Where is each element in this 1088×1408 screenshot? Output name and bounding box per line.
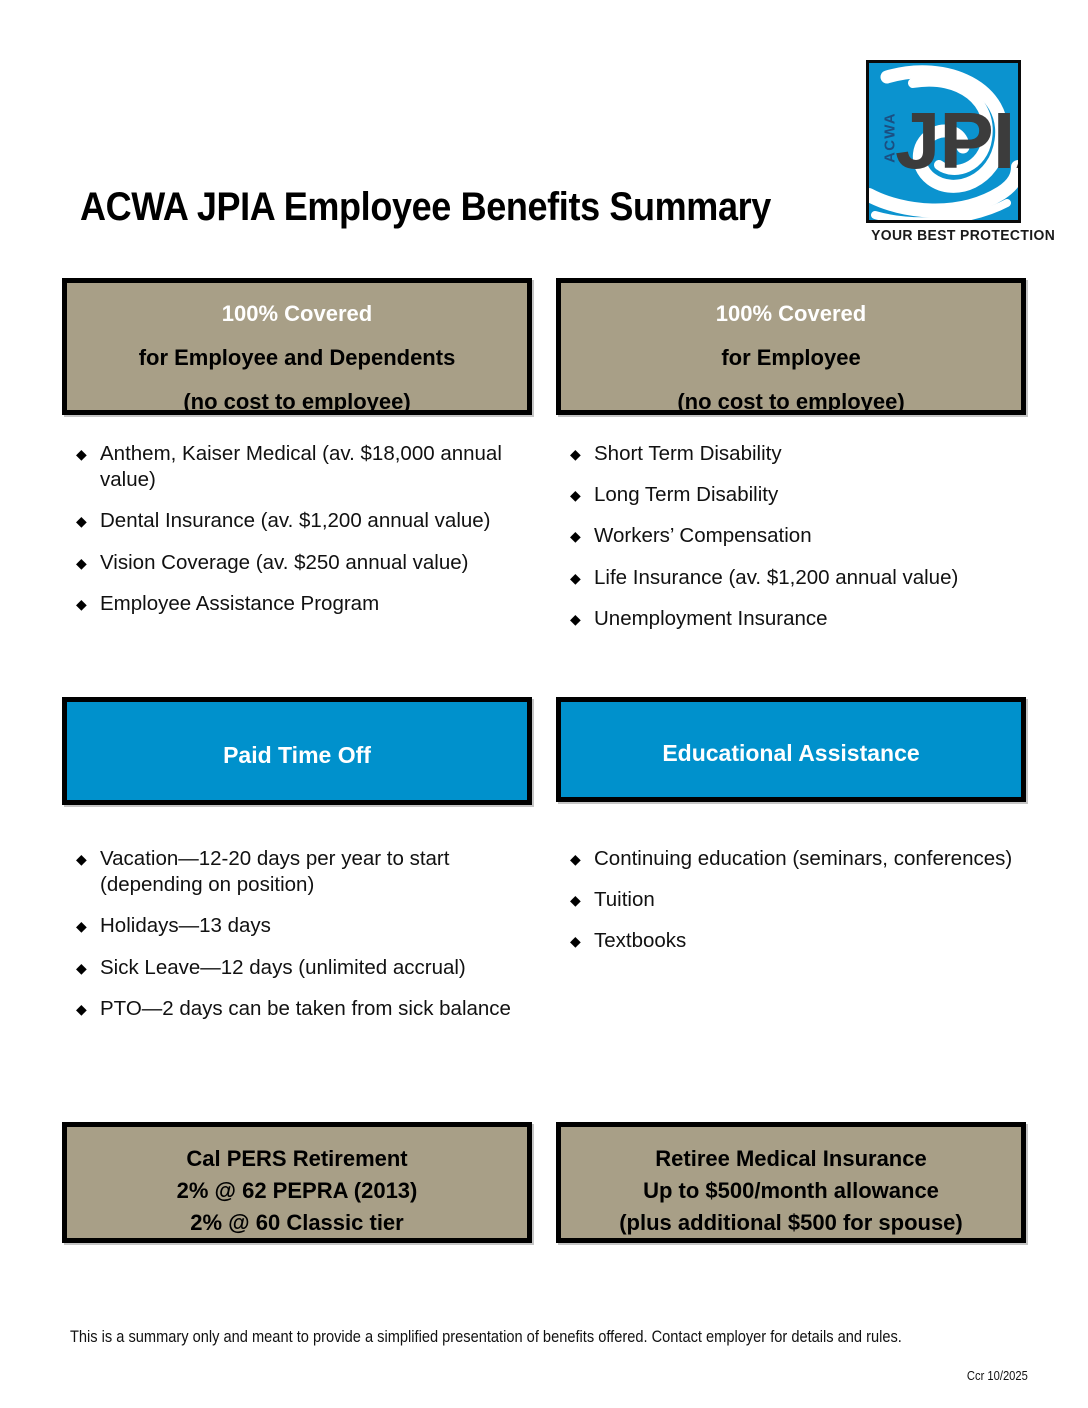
diamond-bullet-icon: ◆ [570, 483, 581, 508]
footer-disclaimer: This is a summary only and meant to prov… [70, 1327, 887, 1347]
list-item: ◆Holidays—13 days [62, 913, 532, 939]
covered-employee-line1: 100% Covered [561, 303, 1021, 325]
cal-pers-line2: 2% @ 62 PEPRA (2013) [67, 1180, 527, 1202]
logo-jpia-wordmark: JPIA [895, 101, 1021, 181]
list-item-label: Textbooks [594, 929, 686, 952]
diamond-bullet-icon: ◆ [76, 914, 87, 939]
list-item: ◆Dental Insurance (av. $1,200 annual val… [62, 508, 532, 534]
educational-assistance-header-lines: Educational Assistance [561, 742, 1021, 765]
list-item: ◆Life Insurance (av. $1,200 annual value… [556, 565, 1026, 591]
covered-dependents-line2: for Employee and Dependents [67, 347, 527, 369]
list-item-label: Long Term Disability [594, 483, 778, 506]
page-title: ACWA JPIA Employee Benefits Summary [80, 186, 771, 228]
list-item-label: Dental Insurance (av. $1,200 annual valu… [100, 509, 491, 532]
diamond-bullet-icon: ◆ [570, 888, 581, 913]
list-item-label: Sick Leave—12 days (unlimited accrual) [100, 956, 466, 979]
diamond-bullet-icon: ◆ [76, 997, 87, 1022]
cal-pers-line3: 2% @ 60 Classic tier [67, 1212, 527, 1234]
paid-time-off-title: Paid Time Off [67, 744, 527, 767]
retiree-medical-line3: (plus additional $500 for spouse) [561, 1212, 1021, 1234]
list-item-label: Tuition [594, 888, 655, 911]
list-item: ◆Employee Assistance Program [62, 591, 532, 617]
list-item-label: Anthem, Kaiser Medical (av. $18,000 annu… [100, 442, 502, 491]
list-item: ◆Tuition [556, 887, 1031, 913]
diamond-bullet-icon: ◆ [570, 566, 581, 591]
list-item: ◆PTO—2 days can be taken from sick balan… [62, 996, 532, 1022]
list-item-label: Vision Coverage (av. $250 annual value) [100, 551, 468, 574]
diamond-bullet-icon: ◆ [76, 592, 87, 617]
diamond-bullet-icon: ◆ [570, 524, 581, 549]
covered-employee-header-lines: 100% Covered for Employee (no cost to em… [561, 303, 1021, 413]
list-item: ◆Sick Leave—12 days (unlimited accrual) [62, 955, 532, 981]
covered-dependents-line3: (no cost to employee) [67, 391, 527, 413]
list-item-label: Employee Assistance Program [100, 592, 379, 615]
list-item: ◆Vision Coverage (av. $250 annual value) [62, 550, 532, 576]
retiree-medical-box: Retiree Medical Insurance Up to $500/mon… [556, 1122, 1026, 1243]
educational-assistance-list: ◆Continuing education (seminars, confere… [556, 846, 1031, 955]
retiree-medical-lines: Retiree Medical Insurance Up to $500/mon… [561, 1148, 1021, 1234]
list-item-label: PTO—2 days can be taken from sick balanc… [100, 997, 511, 1020]
cal-pers-line1: Cal PERS Retirement [67, 1148, 527, 1170]
covered-employee-list: ◆Short Term Disability ◆Long Term Disabi… [556, 441, 1026, 632]
covered-employee-line3: (no cost to employee) [561, 391, 1021, 413]
paid-time-off-list: ◆Vacation—12-20 days per year to start (… [62, 846, 532, 1022]
list-item-label: Vacation—12-20 days per year to start (d… [100, 847, 449, 896]
retiree-medical-line2: Up to $500/month allowance [561, 1180, 1021, 1202]
list-item-label: Holidays—13 days [100, 914, 271, 937]
covered-dependents-line1: 100% Covered [67, 303, 527, 325]
diamond-bullet-icon: ◆ [76, 847, 87, 872]
list-item-label: Short Term Disability [594, 442, 782, 465]
list-item: ◆Long Term Disability [556, 482, 1026, 508]
covered-employee-line2: for Employee [561, 347, 1021, 369]
paid-time-off-header-box: Paid Time Off [62, 697, 532, 805]
logo-tagline: YOUR BEST PROTECTION [871, 228, 1021, 244]
list-item: ◆Workers’ Compensation [556, 523, 1026, 549]
list-item: ◆Continuing education (seminars, confere… [556, 846, 1031, 872]
footer-revision: Ccr 10/2025 [967, 1368, 1028, 1383]
list-item-label: Life Insurance (av. $1,200 annual value) [594, 566, 958, 589]
list-item: ◆Anthem, Kaiser Medical (av. $18,000 ann… [62, 441, 532, 493]
logo-square: ACWA JPIA [866, 60, 1021, 223]
list-item-label: Unemployment Insurance [594, 607, 828, 630]
acwa-jpia-logo: ACWA JPIA YOUR BEST PROTECTION [866, 60, 1028, 256]
covered-employee-header-box: 100% Covered for Employee (no cost to em… [556, 278, 1026, 415]
list-item: ◆Textbooks [556, 928, 1031, 954]
covered-dependents-list: ◆Anthem, Kaiser Medical (av. $18,000 ann… [62, 441, 532, 617]
diamond-bullet-icon: ◆ [570, 929, 581, 954]
list-item-label: Workers’ Compensation [594, 524, 812, 547]
list-item: ◆Vacation—12-20 days per year to start (… [62, 846, 532, 898]
diamond-bullet-icon: ◆ [76, 551, 87, 576]
diamond-bullet-icon: ◆ [76, 956, 87, 981]
paid-time-off-header-lines: Paid Time Off [67, 744, 527, 767]
diamond-bullet-icon: ◆ [76, 509, 87, 534]
list-item: ◆Unemployment Insurance [556, 606, 1026, 632]
diamond-bullet-icon: ◆ [570, 847, 581, 872]
list-item: ◆Short Term Disability [556, 441, 1026, 467]
educational-assistance-header-box: Educational Assistance [556, 697, 1026, 802]
diamond-bullet-icon: ◆ [76, 442, 87, 467]
covered-dependents-header-lines: 100% Covered for Employee and Dependents… [67, 303, 527, 413]
cal-pers-lines: Cal PERS Retirement 2% @ 62 PEPRA (2013)… [67, 1148, 527, 1234]
diamond-bullet-icon: ◆ [570, 442, 581, 467]
covered-dependents-header-box: 100% Covered for Employee and Dependents… [62, 278, 532, 415]
document-page: ACWA JPIA Employee Benefits Summary ACWA… [0, 0, 1088, 1408]
diamond-bullet-icon: ◆ [570, 607, 581, 632]
cal-pers-retirement-box: Cal PERS Retirement 2% @ 62 PEPRA (2013)… [62, 1122, 532, 1243]
retiree-medical-line1: Retiree Medical Insurance [561, 1148, 1021, 1170]
list-item-label: Continuing education (seminars, conferen… [594, 847, 1012, 870]
educational-assistance-title: Educational Assistance [561, 742, 1021, 765]
